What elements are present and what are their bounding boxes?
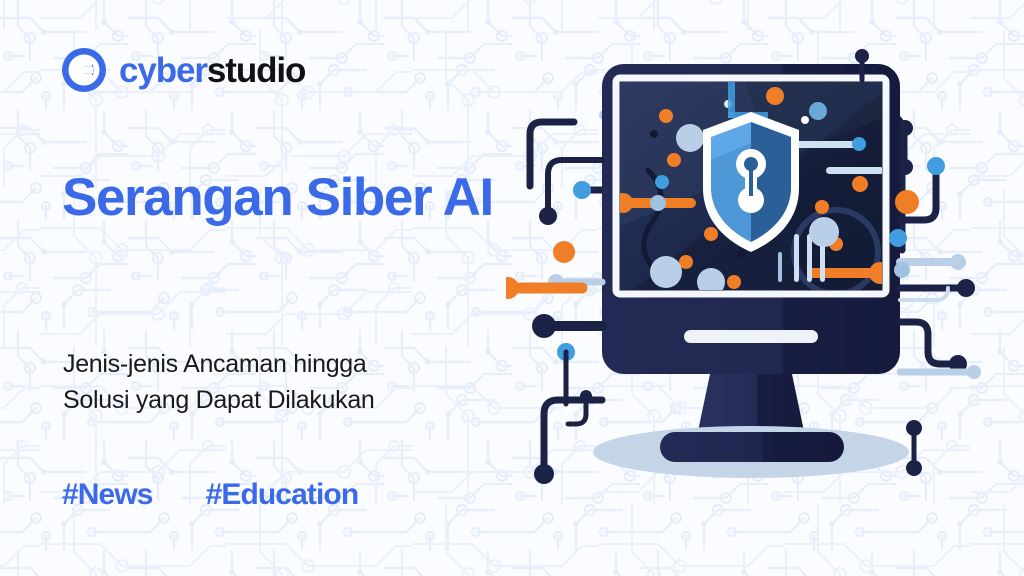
hashtag-education[interactable]: #Education bbox=[206, 480, 359, 510]
page-title: Serangan Siber AI bbox=[62, 168, 532, 227]
brand-name-part-1: cyber bbox=[119, 51, 207, 90]
cyberstudio-circle-c-icon bbox=[62, 48, 106, 92]
monitor-stand-base bbox=[660, 432, 844, 462]
monitor-icon bbox=[602, 64, 900, 436]
page-subtitle: Jenis-jenis Ancaman hingga Solusi yang D… bbox=[63, 347, 503, 418]
hero-content: cyberstudio Serangan Siber AI Jenis-jeni… bbox=[0, 0, 560, 576]
banner-canvas: cyberstudio Serangan Siber AI Jenis-jeni… bbox=[0, 0, 1024, 576]
monitor-screen bbox=[613, 82, 891, 310]
hashtag-news[interactable]: #News bbox=[62, 480, 153, 510]
subtitle-line-1: Jenis-jenis Ancaman hingga bbox=[63, 347, 503, 383]
subtitle-line-2: Solusi yang Dapat Dilakukan bbox=[63, 383, 503, 419]
hashtag-list: #News #Education bbox=[62, 480, 358, 510]
brand-name: cyberstudio bbox=[119, 53, 305, 88]
brand-logo[interactable]: cyberstudio bbox=[62, 48, 305, 92]
cyber-security-monitor-illustration bbox=[506, 0, 1024, 576]
brand-name-part-2: studio bbox=[207, 51, 305, 90]
